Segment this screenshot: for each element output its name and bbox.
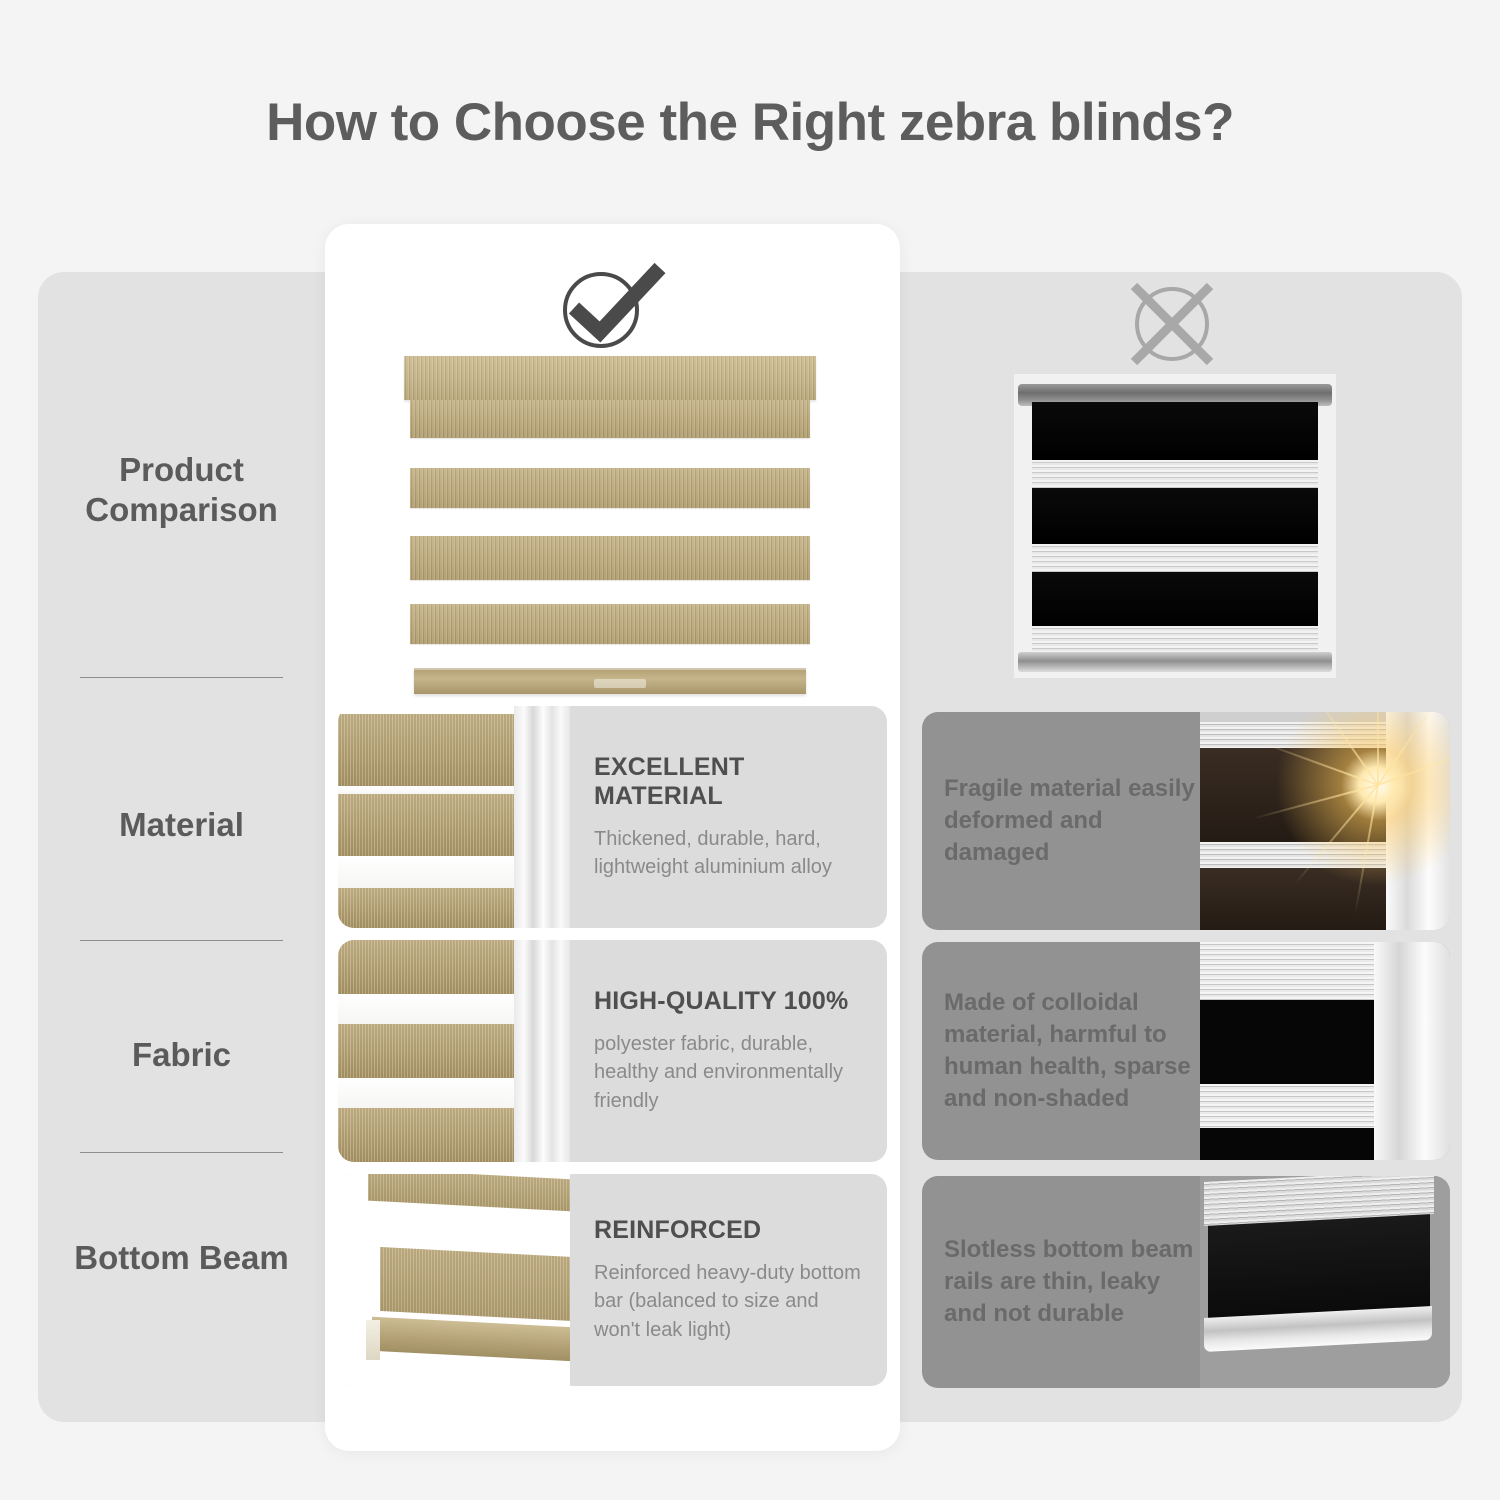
beige-zebra-blind-product-photo — [404, 356, 816, 696]
sheer-band — [1032, 460, 1318, 488]
sheer-band — [1200, 942, 1378, 1000]
feature-body: Slotless bottom beam rails are thin, lea… — [944, 1234, 1209, 1330]
fabric-photo-canvas — [1200, 942, 1450, 1160]
opaque-band — [1032, 488, 1318, 544]
bad-feature-card-bottom-beam: Slotless bottom beam rails are thin, lea… — [922, 1176, 1450, 1388]
check-circle-icon — [556, 262, 666, 354]
blind-band — [338, 714, 514, 786]
beam-end-cap — [366, 1320, 380, 1360]
window-frame-moulding — [514, 706, 570, 928]
feature-body: Reinforced heavy-duty bottom bar (balanc… — [594, 1259, 869, 1344]
sun-ray — [1377, 712, 1450, 786]
row-label-product-comparison: Product Comparison — [38, 450, 325, 531]
beam-photo-canvas — [338, 1174, 570, 1386]
blind-photo-canvas — [338, 706, 570, 928]
sun-ray — [1354, 785, 1379, 913]
window-frame-moulding — [514, 940, 570, 1162]
good-feature-card-fabric: HIGH-QUALITY 100% polyester fabric, dura… — [338, 940, 887, 1162]
blind-band — [338, 888, 514, 928]
sheer-band — [1032, 626, 1318, 653]
opaque-band — [1032, 572, 1318, 626]
blind-gap — [338, 856, 514, 888]
beige-blind-fabric-closeup — [338, 940, 570, 1162]
sun-ray — [1377, 712, 1379, 785]
feature-body: polyester fabric, durable, healthy and e… — [594, 1030, 869, 1115]
blind-bottom-rail — [414, 668, 806, 694]
good-feature-text-material: EXCELLENT MATERIAL Thickened, durable, h… — [594, 706, 869, 928]
row-label-material-text: Material — [119, 806, 244, 843]
row-label-rail: Product Comparison Material Fabric Botto… — [38, 272, 325, 1422]
sheer-band — [1200, 1084, 1378, 1128]
sun-ray — [1303, 712, 1379, 786]
bad-feature-text-material: Fragile material easily deformed and dam… — [944, 712, 1209, 930]
page-title: How to Choose the Right zebra blinds? — [0, 92, 1500, 153]
blind-valance — [404, 356, 816, 400]
blind-slat — [410, 604, 810, 644]
blind-band — [338, 1024, 514, 1078]
sun-ray — [1294, 784, 1379, 885]
beam-slat — [368, 1174, 570, 1211]
bad-feature-card-fabric: Made of colloidal material, harmful to h… — [922, 942, 1450, 1160]
beige-blind-bottom-beam-closeup — [338, 1174, 570, 1386]
sun-ray — [1252, 784, 1378, 820]
sun-ray — [1255, 740, 1378, 786]
opaque-band — [1200, 1000, 1378, 1084]
black-blind-body — [1014, 374, 1336, 678]
blind-band — [338, 940, 514, 994]
feature-heading: EXCELLENT MATERIAL — [594, 753, 869, 811]
sun-photo-canvas — [1200, 712, 1450, 930]
sparse-colloidal-fabric-photo — [1200, 942, 1450, 1160]
blind-slat — [410, 468, 810, 508]
opaque-band — [1208, 1214, 1430, 1322]
feature-heading: HIGH-QUALITY 100% — [594, 987, 869, 1016]
beam-bottom-rail — [372, 1317, 570, 1362]
sheer-band — [1032, 544, 1318, 572]
beige-blind-headrail-closeup — [338, 706, 570, 928]
row-label-material: Material — [38, 805, 325, 845]
bad-feature-card-material: Fragile material easily deformed and dam… — [922, 712, 1450, 930]
feature-body: Thickened, durable, hard, lightweight al… — [594, 825, 869, 882]
blind-slat — [410, 400, 810, 438]
sun-ray — [1378, 740, 1450, 786]
thin-rail-photo-canvas — [1200, 1176, 1450, 1388]
blind-band — [338, 794, 514, 856]
rail-divider-2 — [80, 940, 283, 941]
window-frame-moulding — [1374, 942, 1450, 1160]
row-label-bottom-beam-text: Bottom Beam — [74, 1239, 289, 1276]
row-label-bottom-beam: Bottom Beam — [38, 1238, 325, 1278]
infographic-root: How to Choose the Right zebra blinds? Pr… — [0, 0, 1500, 1500]
row-label-fabric: Fabric — [38, 1035, 325, 1075]
bad-feature-text-bottom-beam: Slotless bottom beam rails are thin, lea… — [944, 1176, 1209, 1388]
opaque-band — [1032, 402, 1318, 460]
black-zebra-blind-product-photo — [1014, 374, 1336, 678]
blind-photo-canvas — [338, 940, 570, 1162]
blind-gap — [338, 786, 514, 794]
rail-divider-1 — [80, 677, 283, 678]
blind-gap — [338, 994, 514, 1024]
good-feature-text-bottom-beam: REINFORCED Reinforced heavy-duty bottom … — [594, 1174, 869, 1386]
feature-body: Fragile material easily deformed and dam… — [944, 773, 1209, 869]
opaque-band — [1200, 1128, 1378, 1160]
good-feature-card-bottom-beam: REINFORCED Reinforced heavy-duty bottom … — [338, 1174, 887, 1386]
blind-gap — [338, 1078, 514, 1108]
good-feature-card-material: EXCELLENT MATERIAL Thickened, durable, h… — [338, 706, 887, 928]
cross-circle-icon — [1124, 278, 1220, 370]
bad-feature-text-fabric: Made of colloidal material, harmful to h… — [944, 942, 1209, 1160]
blind-band — [338, 1108, 514, 1162]
row-label-product-comparison-text: Product Comparison — [85, 451, 278, 528]
feature-heading: REINFORCED — [594, 1216, 869, 1245]
row-label-fabric-text: Fabric — [132, 1036, 231, 1073]
blind-slat — [410, 536, 810, 580]
black-blind-fabric — [1032, 402, 1318, 648]
blind-rail-tab — [594, 679, 646, 688]
rail-divider-3 — [80, 1152, 283, 1153]
feature-body: Made of colloidal material, harmful to h… — [944, 987, 1209, 1116]
black-blind-bottom-rail — [1018, 652, 1332, 672]
thin-bottom-rail-photo — [1200, 1176, 1450, 1388]
good-feature-text-fabric: HIGH-QUALITY 100% polyester fabric, dura… — [594, 940, 869, 1162]
light-leak-deformed-blind-photo — [1200, 712, 1450, 930]
beam-slat — [380, 1247, 570, 1321]
